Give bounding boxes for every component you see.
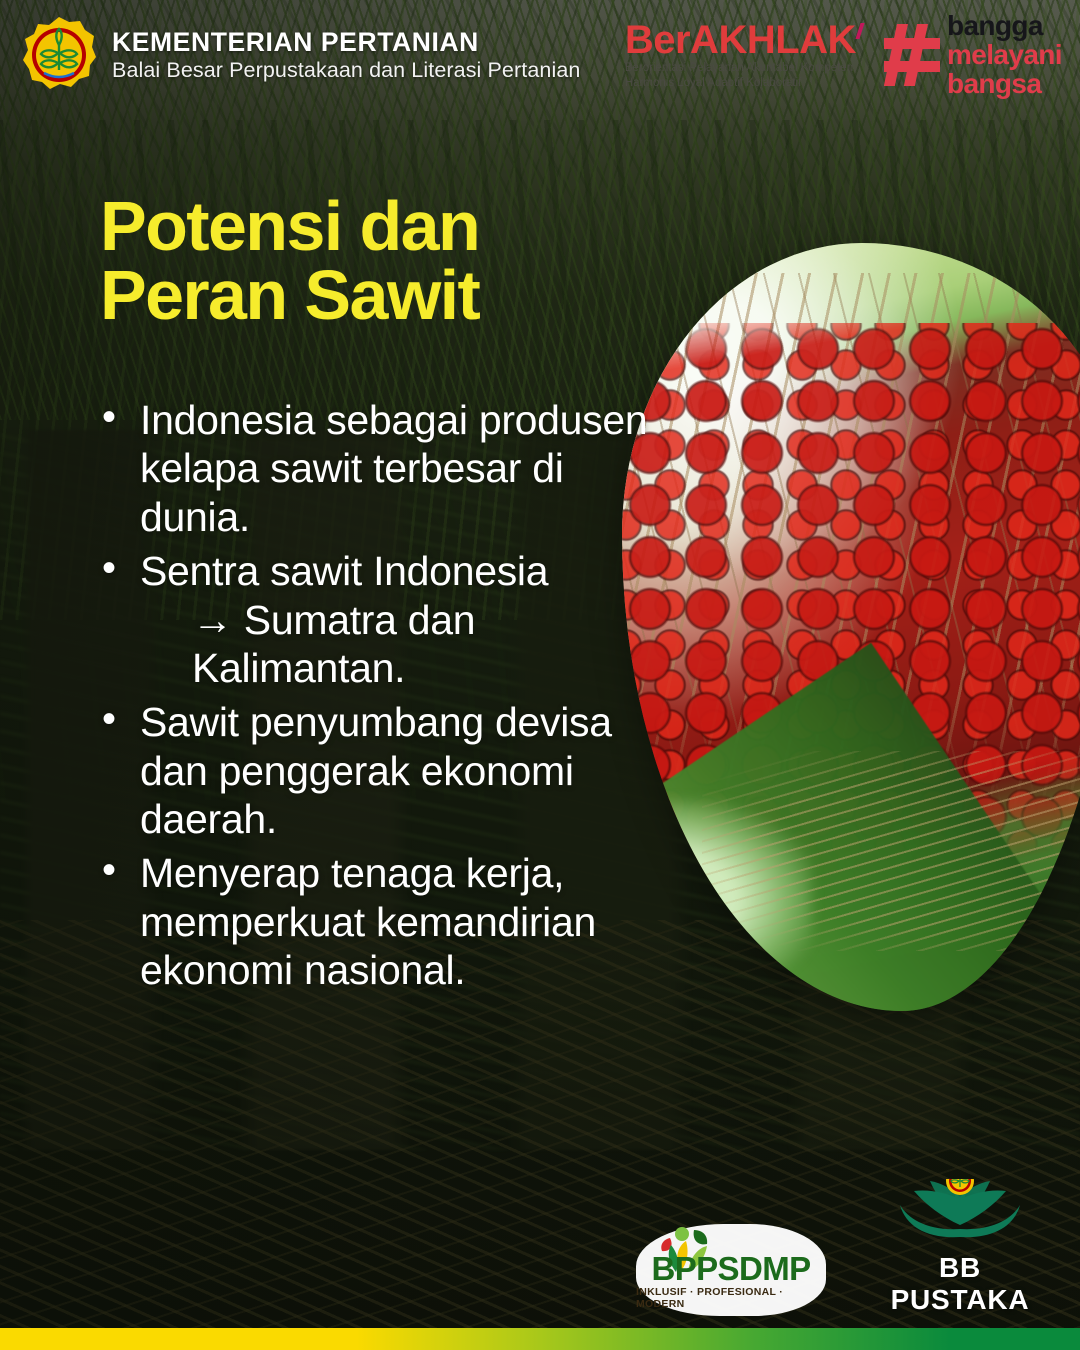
ministry-text-block: KEMENTERIAN PERTANIAN Balai Besar Perpus… — [112, 28, 580, 82]
list-item: Sawit penyumbang devisa dan penggerak ek… — [96, 698, 656, 843]
bullet-text: Menyerap tenaga kerja, memperkuat kemand… — [140, 850, 596, 993]
bullet-text: Sawit penyumbang devisa dan penggerak ek… — [140, 699, 612, 842]
list-item: Indonesia sebagai produsen kelapa sawit … — [96, 396, 656, 541]
bottom-gradient-bar — [0, 1328, 1080, 1350]
berakhlak-logo: BerAKHLAK Berorientasi Pelayanan Akuntab… — [625, 20, 862, 90]
bppsdmp-tagline: INKLUSIF · PROFESIONAL · MODERN — [636, 1286, 826, 1310]
bangga-text-lines: bangga melayani bangsa — [947, 12, 1062, 98]
berakhlak-wordmark: BerAKHLAK — [625, 20, 862, 60]
bullet-text: Indonesia sebagai produsen kelapa sawit … — [140, 397, 647, 540]
hashtag-icon — [884, 24, 940, 86]
list-item: Menyerap tenaga kerja, memperkuat kemand… — [96, 849, 656, 994]
bppsdmp-logo: BPPSDMP INKLUSIF · PROFESIONAL · MODERN — [636, 1224, 826, 1316]
bullet-subtext: → Sumatra dan Kalimantan. — [140, 596, 656, 693]
header: KEMENTERIAN PERTANIAN Balai Besar Perpus… — [0, 0, 1080, 110]
palm-fruit-fibres — [702, 751, 1080, 951]
poster-root: KEMENTERIAN PERTANIAN Balai Besar Perpus… — [0, 0, 1080, 1350]
palm-fruit-photo — [622, 243, 1080, 1011]
berakhlak-wordmark-text: BerAKHLAK — [625, 18, 856, 62]
bangga-line-3: bangsa — [947, 70, 1062, 98]
bppsdmp-name: BPPSDMP — [652, 1252, 811, 1285]
ministry-title: KEMENTERIAN PERTANIAN — [112, 28, 580, 56]
list-item: Sentra sawit Indonesia → Sumatra dan Kal… — [96, 547, 656, 692]
bppsdmp-text-block: BPPSDMP INKLUSIF · PROFESIONAL · MODERN — [636, 1224, 826, 1316]
footer-logos: BPPSDMP INKLUSIF · PROFESIONAL · MODERN — [636, 1179, 1050, 1316]
bangga-line-2: melayani — [947, 41, 1062, 69]
berakhlak-tick-icon — [855, 23, 864, 39]
bbpustaka-name: BB PUSTAKA — [870, 1252, 1050, 1316]
ministry-subtitle: Balai Besar Perpustakaan dan Literasi Pe… — [112, 59, 580, 82]
berakhlak-values-line1: Berorientasi Pelayanan Akuntabel Kompete… — [625, 61, 862, 75]
bangga-line-1: bangga — [947, 12, 1062, 40]
bbpustaka-logo: BB PUSTAKA — [870, 1179, 1050, 1316]
header-logos: BerAKHLAK Berorientasi Pelayanan Akuntab… — [625, 12, 1062, 98]
berakhlak-values-line2: Harmonis Loyal Adaptif Kolaboratif — [625, 76, 862, 90]
bbpustaka-book-leaves-icon — [880, 1179, 1040, 1245]
bullet-list: Indonesia sebagai produsen kelapa sawit … — [96, 396, 656, 1001]
kementan-seal-icon — [22, 15, 96, 95]
bullet-text: Sentra sawit Indonesia — [140, 548, 548, 594]
bangga-melayani-bangsa-logo: bangga melayani bangsa — [884, 12, 1062, 98]
